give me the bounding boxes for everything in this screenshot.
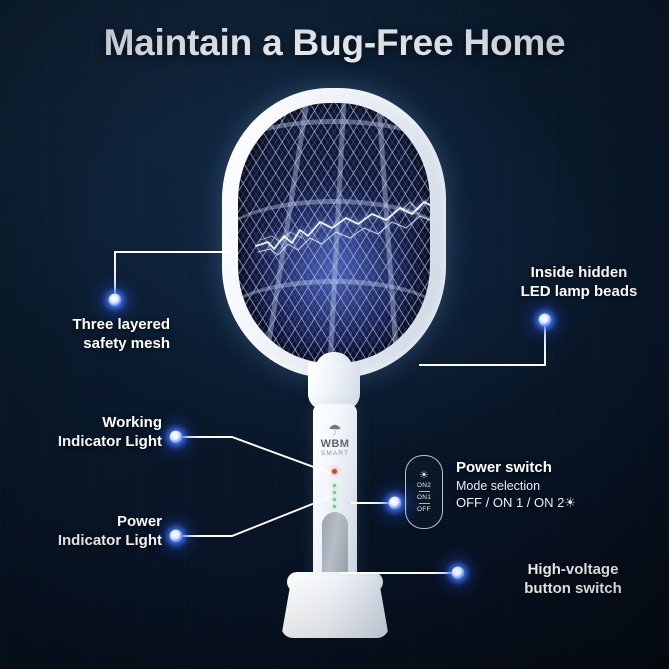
power-led (333, 484, 336, 487)
power-indicator-led-column (333, 484, 336, 514)
mesh-rib (238, 119, 430, 194)
brand-sub: SMART (313, 450, 357, 458)
mesh-glow (253, 181, 414, 347)
callout-dot-working-light[interactable] (170, 431, 183, 444)
mesh-rib (326, 103, 347, 363)
power-led (333, 498, 336, 501)
switch-divider (419, 491, 430, 492)
callout-label-line1: Three layered (0, 315, 170, 334)
mesh-rib (238, 199, 430, 274)
charging-base (281, 576, 389, 638)
racket-neck-cap (315, 352, 353, 378)
callout-label-line2: LED lamp beads (489, 282, 669, 301)
power-led (333, 505, 336, 508)
callout-dot-high-voltage[interactable] (452, 567, 465, 580)
lamp-icon: ☀ (420, 471, 429, 481)
racket-mesh-area (238, 103, 430, 363)
callout-dot-power-light[interactable] (170, 530, 183, 543)
callout-label-line2: Indicator Light (0, 531, 162, 550)
callout-label-line2: Indicator Light (0, 432, 162, 451)
callout-label-led-beads: Inside hidden LED lamp beads (489, 263, 669, 301)
leader-line-safety-mesh (115, 252, 233, 300)
callout-dot-led-beads[interactable] (539, 314, 552, 327)
power-switch-subtitle: Mode selection (456, 479, 540, 493)
callout-label-line2: safety mesh (0, 334, 170, 353)
brand-name: WBM (313, 438, 357, 450)
mesh-rib (259, 103, 311, 363)
callout-label-high-voltage: High-voltage button switch (478, 560, 668, 598)
switch-divider (419, 503, 430, 504)
mesh-rib (376, 103, 402, 363)
power-switch-title: Power switch (456, 459, 552, 476)
racket-neck (308, 362, 360, 410)
callout-label-power-light: Power Indicator Light (0, 512, 162, 550)
callout-label-safety-mesh: Three layered safety mesh (0, 315, 170, 353)
power-switch-modes-text: OFF / ON 1 / ON 2 (456, 495, 564, 510)
callout-dot-safety-mesh[interactable] (109, 294, 122, 307)
power-led (333, 491, 336, 494)
callout-label-working-light: Working Indicator Light (0, 413, 162, 451)
racket-handle (313, 404, 357, 590)
racket-head-frame (222, 88, 446, 378)
callout-label-line1: High-voltage (478, 560, 668, 579)
high-voltage-button-panel[interactable] (322, 512, 348, 604)
callout-label-line1: Working (0, 413, 162, 432)
leader-line-working-light (176, 437, 330, 473)
switch-option-on1: ON1 (417, 494, 431, 502)
callout-label-line1: Power (0, 512, 162, 531)
leader-line-power-light (176, 497, 330, 536)
page-title: Maintain a Bug-Free Home (0, 22, 669, 64)
mesh-rib (238, 279, 430, 354)
electric-arc-icon (254, 118, 430, 363)
sun-icon: ☀ (564, 495, 576, 510)
callout-label-line2: button switch (478, 579, 668, 598)
callout-dot-power-switch[interactable] (389, 497, 402, 510)
power-switch-badge[interactable]: ☀ ON2 ON1 OFF (405, 455, 443, 529)
leader-line-led-beads (420, 320, 545, 365)
umbrella-icon: ☂ (313, 424, 357, 438)
mesh-lattice-outer (238, 103, 430, 363)
infographic-canvas: Maintain a Bug-Free Home (0, 0, 669, 669)
power-switch-modes: OFF / ON 1 / ON 2☀ (456, 495, 576, 511)
switch-option-off: OFF (417, 506, 431, 514)
switch-option-on2: ON2 (417, 482, 431, 490)
mesh-lattice-inner (238, 103, 430, 363)
brand-mark: ☂ WBM SMART (313, 424, 357, 458)
callout-label-line1: Inside hidden (489, 263, 669, 282)
working-indicator-led (332, 469, 337, 474)
charging-base-lip (287, 572, 383, 592)
